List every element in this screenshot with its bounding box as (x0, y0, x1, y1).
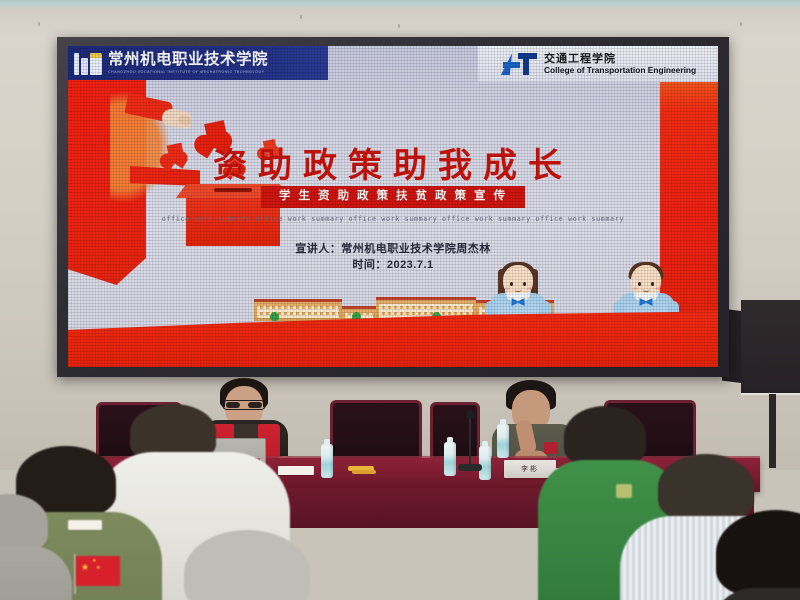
hand-illustration (126, 98, 196, 132)
flag-star-icon: ★ (81, 563, 89, 572)
pen-on-table (352, 470, 376, 474)
led-screen-surface: 常州机电职业技术学院 CHANGZHOU VOCATIONAL INSTITUT… (68, 46, 718, 367)
microphone-head (466, 410, 474, 419)
water-bottle[interactable] (479, 446, 491, 480)
flag-star-icon: ★ (96, 566, 100, 571)
conference-area: 周杰林 李彬 (0, 380, 800, 600)
university-name-cn: 常州机电职业技术学院 (108, 52, 268, 68)
led-screen-frame: 常州机电职业技术学院 CHANGZHOU VOCATIONAL INSTITUT… (57, 37, 729, 377)
water-bottle[interactable] (444, 442, 456, 476)
college-4t-logo-icon (502, 51, 538, 77)
slide-university-header: 常州机电职业技术学院 CHANGZHOU VOCATIONAL INSTITUT… (68, 46, 328, 80)
university-name-en: CHANGZHOU VOCATIONAL INSTITUTE OF MECHAT… (108, 70, 268, 74)
red-flag: ★ ★ ★ (76, 556, 120, 586)
slide-college-header: 交通工程学院 College of Transportation Enginee… (478, 46, 718, 82)
audience-member-bottom-center (174, 530, 324, 600)
presentation-room-photo: 常州机电职业技术学院 CHANGZHOU VOCATIONAL INSTITUT… (0, 0, 800, 600)
university-logo-icon (74, 52, 103, 75)
college-name-cn: 交通工程学院 (544, 53, 696, 65)
ceiling-strip (0, 0, 800, 9)
audience-member-right-dark (716, 510, 800, 600)
slide-english-filler: office work summary office work summary … (68, 214, 718, 225)
flag-star-icon: ★ (92, 559, 96, 564)
speaker-name-line: 宣讲人：常州机电职业技术学院周杰林 (68, 242, 718, 258)
presentation-slide: 常州机电职业技术学院 CHANGZHOU VOCATIONAL INSTITUT… (68, 46, 718, 367)
slide-main-title: 资助政策助我成长 (68, 138, 718, 187)
water-bottle[interactable] (321, 444, 333, 478)
microphone-stem (469, 416, 471, 466)
audience-member-far-left (0, 494, 70, 600)
water-bottle[interactable] (497, 424, 509, 458)
slide-subtitle-bar: 学生资助政策扶贫政策宣传 (261, 186, 525, 208)
paper-on-desk-foreground (68, 520, 102, 530)
college-name-en: College of Transportation Engineering (544, 66, 696, 75)
